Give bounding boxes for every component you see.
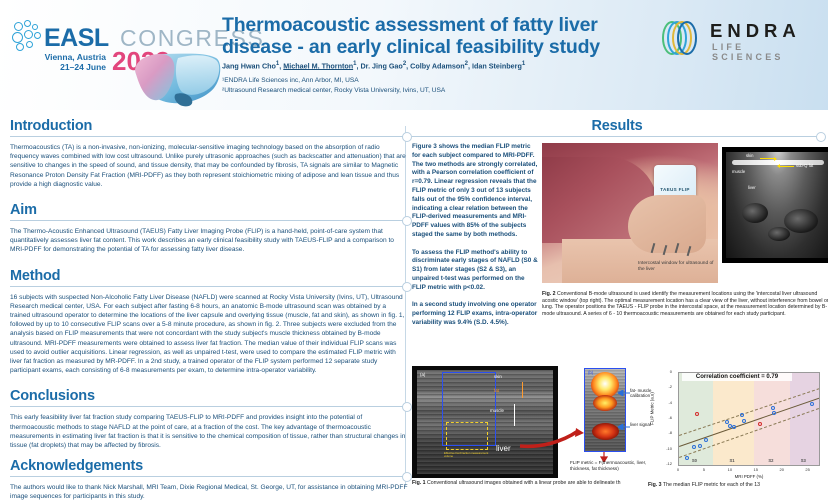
us-label-skin: skin <box>746 153 753 158</box>
endra-tagline: LIFE SCIENCES <box>712 42 820 62</box>
results-paragraph-1: Figure 3 shows the median FLIP metric fo… <box>412 143 537 238</box>
us-label-subq-fat: sub-Q fat <box>796 163 813 168</box>
fig1-panel-b-label: (b) <box>588 370 593 375</box>
introduction-body: Thermoacoustics (TA) is a non-invasive, … <box>10 143 408 189</box>
section-heading-introduction: Introduction <box>10 118 408 134</box>
easl-bubbles-icon <box>12 20 48 54</box>
chart-band-label-s1: S1 <box>729 458 734 463</box>
endra-wordmark: ENDRA <box>710 20 801 42</box>
fig2-bmode-ultrasound: skin sub-Q fat muscle liver <box>722 147 828 263</box>
method-body: 16 subjects with suspected Non-Alcoholic… <box>10 293 408 376</box>
fig3-label: Fig. 3 <box>648 482 662 488</box>
fig1-ultrasound-image: (a) skin fat muscle liver Effective Fat … <box>412 366 558 478</box>
chart-y-tick: -12 <box>656 461 672 466</box>
section-heading-conclusions: Conclusions <box>10 388 408 404</box>
chart-x-tick: 5 <box>697 467 711 472</box>
fig2-probe-photo: TAEUS FLIP Intercostal window for ultras… <box>542 143 718 283</box>
fig1-block: (a) skin fat muscle liver Effective Fat … <box>412 366 640 478</box>
chart-x-tick: 0 <box>671 467 685 472</box>
fig1-panel-a-label: (a) <box>420 372 425 377</box>
chart-y-tick: -10 <box>656 446 672 451</box>
aim-body: The Thermo-Acoustic Enhanced Ultrasound … <box>10 227 408 255</box>
ta-hotspot-liver <box>592 423 619 440</box>
author-list: Jang Hwan Cho1, Michael M. Thornton1, Dr… <box>222 60 652 70</box>
fig3-block: S0S1S2S3 Correlation coefficient = 0.79 … <box>648 366 828 500</box>
ta-hotspot-middle <box>593 395 617 411</box>
fig1-flip-equation: FLIP metric = F(thermoacoustic, liver, t… <box>570 460 650 471</box>
fig1-label-fat: fat <box>494 388 499 393</box>
chart-band-s3 <box>790 373 819 465</box>
chart-y-tick: -2 <box>656 384 672 389</box>
us-label-liver: liver <box>748 185 756 190</box>
chart-x-tick: 10 <box>723 467 737 472</box>
chart-title: Correlation coefficient = 0.79 <box>682 373 792 381</box>
chart-data-point <box>810 402 814 406</box>
operator-hand <box>628 195 706 253</box>
conclusions-body: This early feasibility liver fat fractio… <box>10 413 408 450</box>
fig3-plot-area: S0S1S2S3 <box>678 372 820 466</box>
fig1-roi-yellow <box>446 422 488 450</box>
chart-band-label-s0: S0 <box>692 458 697 463</box>
bottom-figures: (a) skin fat muscle liver Effective Fat … <box>412 366 826 500</box>
chart-band-label-s3: S3 <box>801 458 806 463</box>
chart-y-axis-label: FLIP Metric (a.u) <box>650 379 655 439</box>
chart-band-label-s2: S2 <box>768 458 773 463</box>
chart-band-s1 <box>713 373 754 465</box>
fig1-label-skin: skin <box>494 374 502 379</box>
chart-x-tick: 15 <box>749 467 763 472</box>
fig1-label: Fig. 1 <box>412 480 426 486</box>
fig1-label-muscle: muscle <box>490 408 504 413</box>
intercostal-window-note: Intercostal window for ultrasound of the… <box>638 261 718 273</box>
fig1-flow-arrow-icon <box>518 428 584 450</box>
fig1-callout-arrow-1-icon <box>618 390 630 396</box>
section-heading-method: Method <box>10 268 408 284</box>
chart-x-tick: 25 <box>801 467 815 472</box>
fig1-caption-text: Conventional ultrasound images obtained … <box>427 480 621 486</box>
affiliation-2: ²Ultrasound Research medical center, Roc… <box>222 86 652 96</box>
fig2-caption: Fig. 2 Conventional B-mode ultrasound is… <box>542 291 828 317</box>
poster-header: EASL CONGRESS Vienna, Austria 21–24 June… <box>0 0 828 110</box>
chart-data-point <box>772 411 776 415</box>
affiliations: ¹ENDRA Life Sciences inc, Ann Arbor, MI,… <box>222 76 652 95</box>
fig1-caption: Fig. 1 Conventional ultrasound images ob… <box>412 480 650 487</box>
rule-conclusions <box>10 406 408 407</box>
fig1-callout-arrow-2-icon <box>618 424 630 430</box>
fig2-caption-text: Conventional B-mode ultrasound is used i… <box>542 291 828 317</box>
results-paragraph-3: In a second study involving one operator… <box>412 301 537 326</box>
rule-acknowledgements <box>10 476 408 477</box>
chart-x-axis-label: MRI PDFF (%) <box>678 474 820 479</box>
liver-illustration <box>128 48 224 110</box>
rule-method <box>10 286 408 287</box>
left-column: Introduction Thermoacoustics (TA) is a n… <box>10 118 408 500</box>
acknowledgements-body: The authors would like to thank Nick Mar… <box>10 483 408 500</box>
easl-location: Vienna, Austria 21–24 June <box>28 52 106 72</box>
easl-city-label: Vienna, Austria <box>28 52 106 62</box>
us-label-muscle: muscle <box>732 169 745 174</box>
poster-root: EASL CONGRESS Vienna, Austria 21–24 June… <box>0 0 828 500</box>
chart-x-tick: 20 <box>775 467 789 472</box>
easl-wordmark: EASL <box>44 24 109 53</box>
endra-logo: ENDRA LIFE SCIENCES <box>660 16 820 62</box>
us-arrow-skin-icon <box>760 158 774 159</box>
results-body: Figure 3 shows the median FLIP metric fo… <box>412 143 822 328</box>
easl-dates-label: 21–24 June <box>28 62 106 72</box>
rule-aim <box>10 220 408 221</box>
chart-y-tick: -6 <box>656 415 672 420</box>
fig3-caption-text: The median FLIP metric for each of the 1… <box>663 482 760 488</box>
fig1-roi-note: Effective Fat Fraction measurement volum… <box>444 452 492 459</box>
chart-y-tick: -4 <box>656 400 672 405</box>
results-paragraph-2: To assess the FLIP method's ability to d… <box>412 249 538 291</box>
affiliation-1: ¹ENDRA Life Sciences inc, Ann Arbor, MI,… <box>222 76 652 86</box>
rule-introduction <box>10 136 408 137</box>
right-column: Results Figure 3 shows the median FLIP m… <box>412 118 822 328</box>
fig1-fat-thickness-arrow-icon <box>522 382 523 398</box>
section-heading-aim: Aim <box>10 202 408 218</box>
us-arrow-fat-icon <box>780 166 794 167</box>
poster-title: Thermoacoustic assessment of fatty liver… <box>222 14 642 58</box>
chart-y-tick: 0 <box>656 369 672 374</box>
fig1-thermoacoustic-panel <box>584 368 626 452</box>
endra-mark-icon <box>660 18 702 58</box>
section-heading-acknowledgements: Acknowledgements <box>10 458 408 474</box>
results-text-block: Figure 3 shows the median FLIP metric fo… <box>412 143 540 328</box>
fig2-label: Fig. 2 <box>542 291 556 297</box>
section-heading-results: Results <box>412 118 822 134</box>
fig3-caption: Fig. 3 The median FLIP metric for each o… <box>648 482 828 489</box>
fig1-label-liver: liver <box>496 444 511 453</box>
probe-device-label: TAEUS FLIP <box>656 187 694 192</box>
fig1-muscle-thickness-arrow-icon <box>514 404 515 426</box>
rule-results <box>412 136 822 137</box>
chart-y-tick: -8 <box>656 430 672 435</box>
